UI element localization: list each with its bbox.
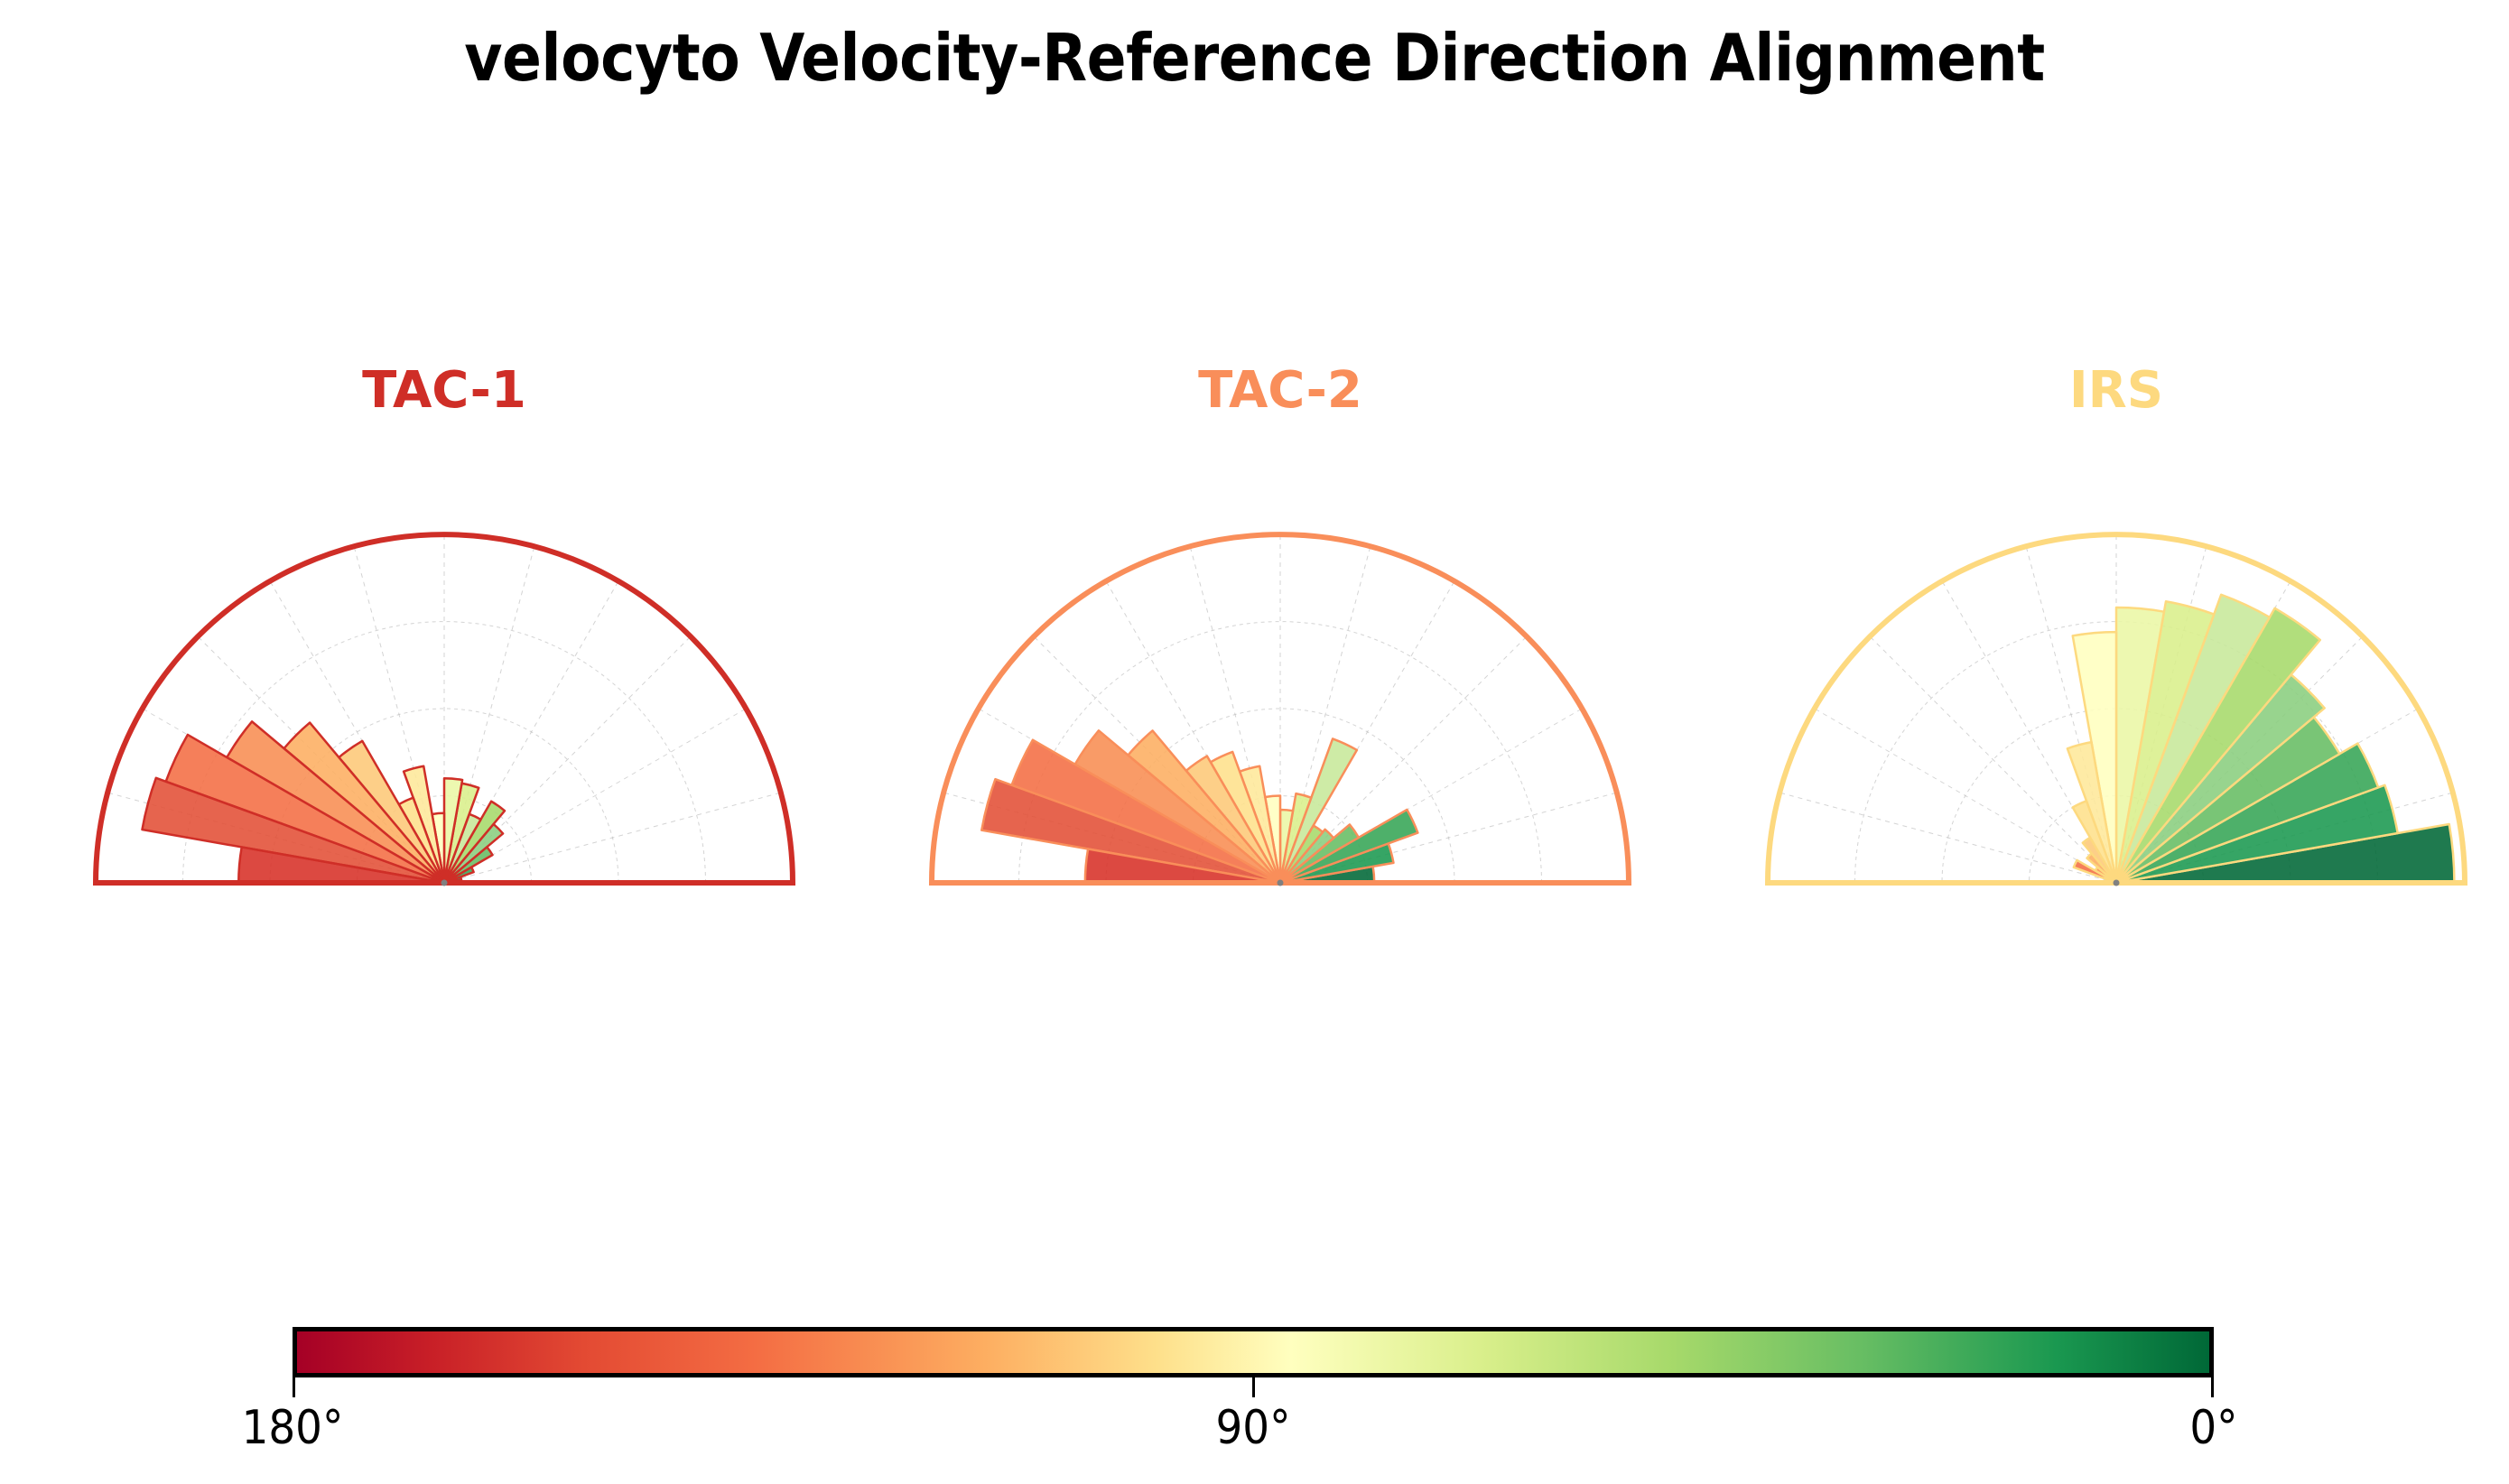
polar-panel-tac-1: TAC-1 (38, 361, 850, 921)
colorbar-tick (2211, 1377, 2214, 1397)
panel-title-tac-1: TAC-1 (38, 361, 850, 420)
colorbar-tick (293, 1377, 295, 1397)
polar-panel-tac-2: TAC-2 (874, 361, 1687, 921)
colorbar-ticks (293, 1377, 2214, 1401)
polar-grid-spoke (1780, 793, 2116, 883)
polar-grid-spoke (1815, 709, 2116, 883)
colorbar-tick-labels: 180°90°0° (0, 1401, 2509, 1464)
colorbar (293, 1327, 2214, 1377)
polar-svg-irs (1710, 469, 2509, 903)
colorbar-tick-label: 90° (1216, 1401, 1291, 1455)
colorbar-gradient (293, 1327, 2214, 1377)
figure-canvas: velocyto Velocity-Reference Direction Al… (0, 0, 2509, 1484)
panel-title-tac-2: TAC-2 (874, 361, 1687, 420)
colorbar-tick-label: 180° (242, 1401, 344, 1455)
polar-origin-marker (441, 880, 448, 886)
polar-panel-irs: IRS (1710, 361, 2509, 921)
polar-origin-marker (2114, 880, 2120, 886)
polar-plot-tac-2 (874, 469, 1687, 903)
polar-svg-tac-1 (38, 469, 850, 903)
polar-plot-tac-1 (38, 469, 850, 903)
polar-origin-marker (1278, 880, 1284, 886)
colorbar-tick (1252, 1377, 1255, 1397)
panel-title-irs: IRS (1710, 361, 2509, 420)
polar-plot-irs (1710, 469, 2509, 903)
page-title: velocyto Velocity-Reference Direction Al… (0, 20, 2509, 96)
polar-svg-tac-2 (874, 469, 1687, 903)
colorbar-tick-label: 0° (2189, 1401, 2237, 1455)
